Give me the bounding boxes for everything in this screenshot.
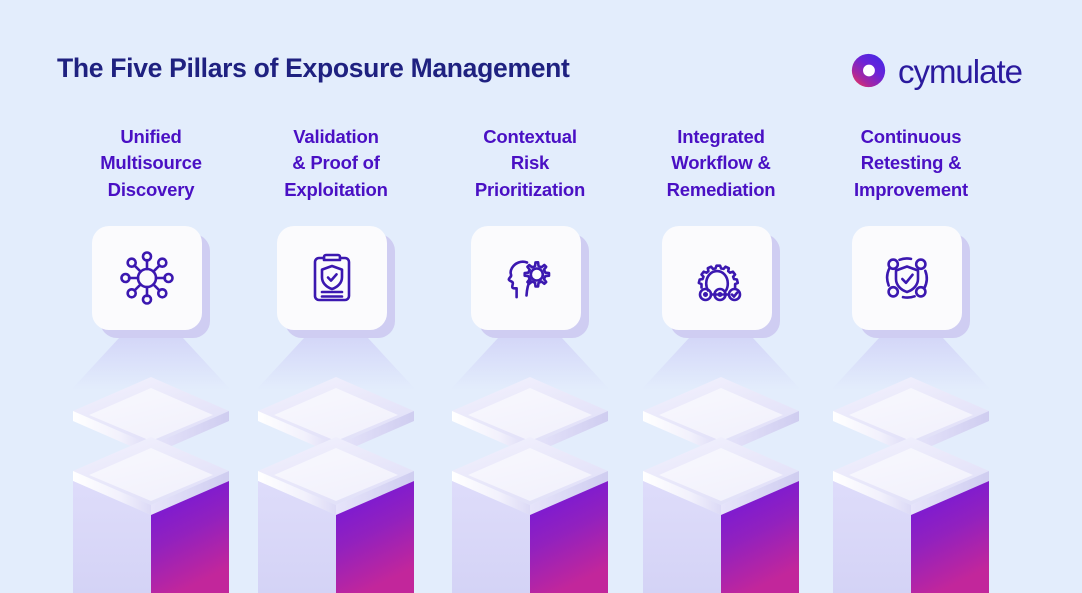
- pillar-heading-2-line-3: Exploitation: [240, 177, 432, 203]
- pillar-graphic-2: [240, 355, 432, 593]
- icon-card-4: [662, 226, 780, 338]
- pillar-heading-1-line-1: Unified: [55, 124, 247, 150]
- pillar-heading-4-line-3: Remediation: [625, 177, 817, 203]
- head-gear-icon: [494, 246, 558, 310]
- icon-card-face-4: [662, 226, 772, 330]
- pillar-heading-2: Validation & Proof of Exploitation: [240, 124, 432, 203]
- pillar-graphic-1: [55, 355, 247, 593]
- pillar-heading-3: Contextual Risk Prioritization: [434, 124, 626, 203]
- pillar-heading-3-line-2: Risk: [434, 150, 626, 176]
- pillar-column-4: Integrated Workflow & Remediation: [625, 0, 817, 593]
- icon-card-face-3: [471, 226, 581, 330]
- pillar-graphic-5: [815, 355, 1007, 593]
- pillar-graphic-4: [625, 355, 817, 593]
- pillar-column-1: Unified Multisource Discovery: [55, 0, 247, 593]
- icon-card-5: [852, 226, 970, 338]
- icon-card-face-5: [852, 226, 962, 330]
- network-hub-icon: [115, 246, 179, 310]
- icon-card-face-1: [92, 226, 202, 330]
- pillar-heading-5-line-2: Retesting &: [815, 150, 1007, 176]
- gear-workflow-nodes-icon: [685, 246, 749, 310]
- pillar-heading-2-line-1: Validation: [240, 124, 432, 150]
- pillar-heading-4: Integrated Workflow & Remediation: [625, 124, 817, 203]
- pillar-column-3: Contextual Risk Prioritization: [434, 0, 626, 593]
- pillar-heading-4-line-1: Integrated: [625, 124, 817, 150]
- pillar-heading-1-line-2: Multisource: [55, 150, 247, 176]
- pillar-heading-5-line-1: Continuous: [815, 124, 1007, 150]
- pillar-heading-3-line-1: Contextual: [434, 124, 626, 150]
- pillars-row: Unified Multisource Discovery: [0, 0, 1082, 593]
- icon-card-2: [277, 226, 395, 338]
- pillar-column-2: Validation & Proof of Exploitation: [240, 0, 432, 593]
- shield-orbit-icon: [875, 246, 939, 310]
- icon-card-face-2: [277, 226, 387, 330]
- pillar-column-5: Continuous Retesting & Improvement: [815, 0, 1007, 593]
- pillar-heading-1: Unified Multisource Discovery: [55, 124, 247, 203]
- icon-card-1: [92, 226, 210, 338]
- icon-card-3: [471, 226, 589, 338]
- pillar-heading-2-line-2: & Proof of: [240, 150, 432, 176]
- pillar-heading-3-line-3: Prioritization: [434, 177, 626, 203]
- pillar-graphic-3: [434, 355, 626, 593]
- pillar-heading-5: Continuous Retesting & Improvement: [815, 124, 1007, 203]
- pillar-heading-5-line-3: Improvement: [815, 177, 1007, 203]
- pillar-heading-1-line-3: Discovery: [55, 177, 247, 203]
- clipboard-shield-check-icon: [300, 246, 364, 310]
- pillar-heading-4-line-2: Workflow &: [625, 150, 817, 176]
